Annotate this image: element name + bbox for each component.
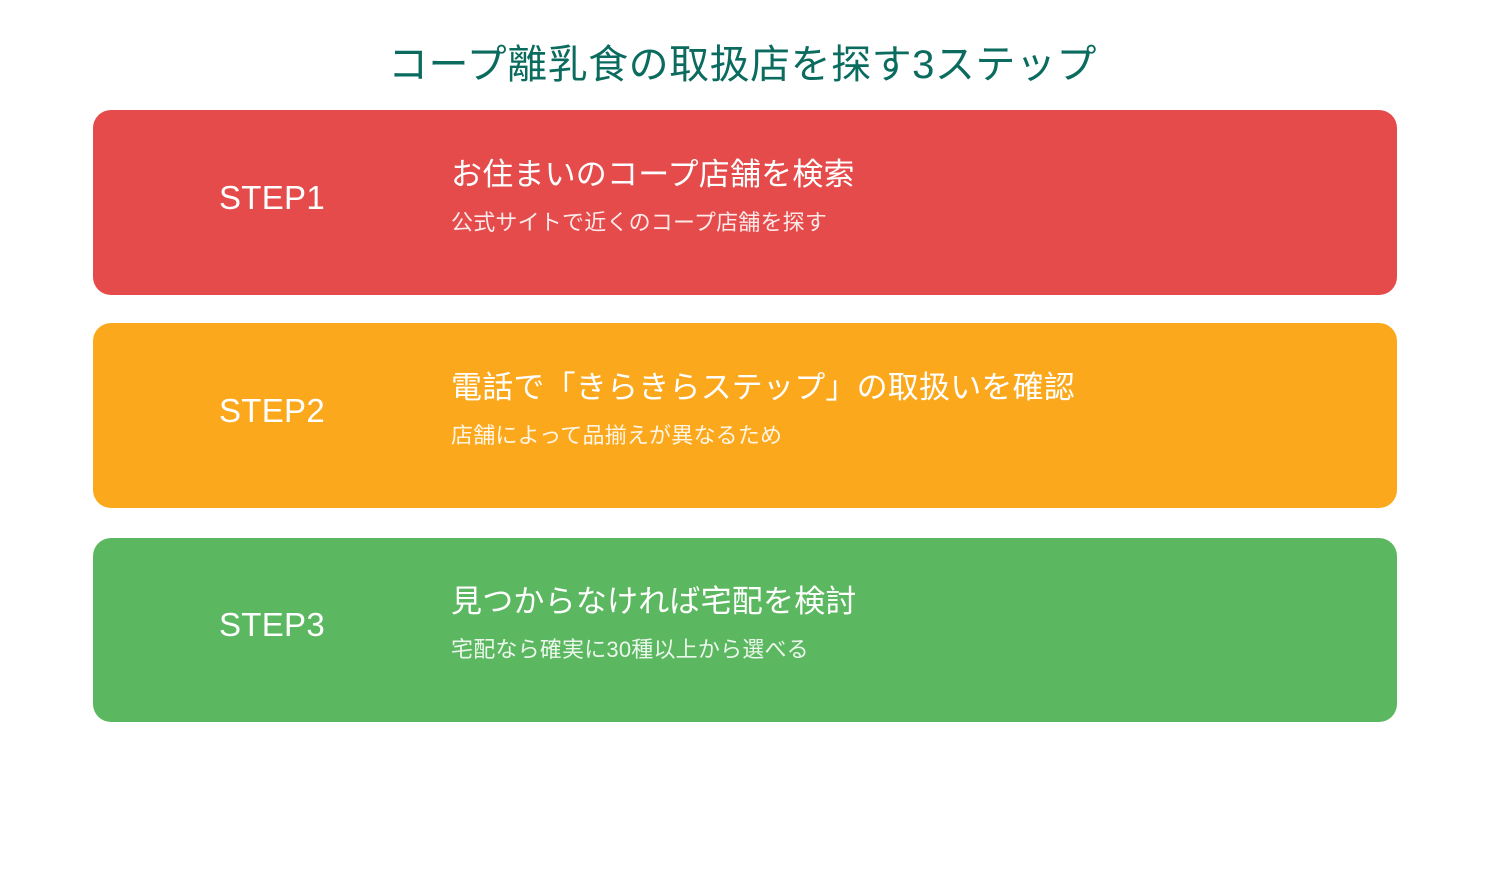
step-heading-1: お住まいのコープ店舗を検索	[451, 156, 1397, 195]
step-heading-2: 電話で「きらきらステップ」の取扱いを確認	[451, 369, 1397, 408]
step-label-1: STEP1	[219, 179, 325, 217]
step-card-1: STEP1 お住まいのコープ店舗を検索 公式サイトで近くのコープ店舗を探す	[93, 110, 1397, 295]
step-subtext-1: 公式サイトで近くのコープ店舗を探す	[451, 209, 1397, 238]
infographic-root: コープ離乳食の取扱店を探す3ステップ STEP1 お住まいのコープ店舗を検索 公…	[0, 0, 1485, 885]
step-label-container-1: STEP1	[93, 179, 451, 227]
step-text-container-2: 電話で「きらきらステップ」の取扱いを確認 店舗によって品揃えが異なるため	[451, 369, 1397, 462]
step-card-2: STEP2 電話で「きらきらステップ」の取扱いを確認 店舗によって品揃えが異なる…	[93, 323, 1397, 508]
steps-list: STEP1 お住まいのコープ店舗を検索 公式サイトで近くのコープ店舗を探す ST…	[93, 110, 1397, 722]
step-text-container-1: お住まいのコープ店舗を検索 公式サイトで近くのコープ店舗を探す	[451, 156, 1397, 249]
step-label-container-2: STEP2	[93, 392, 451, 440]
step-subtext-3: 宅配なら確実に30種以上から選べる	[451, 636, 1397, 665]
step-label-container-3: STEP3	[93, 606, 451, 654]
step-text-container-3: 見つからなければ宅配を検討 宅配なら確実に30種以上から選べる	[451, 583, 1397, 676]
step-label-2: STEP2	[219, 392, 325, 430]
step-subtext-2: 店舗によって品揃えが異なるため	[451, 422, 1397, 451]
step-label-3: STEP3	[219, 606, 325, 644]
step-card-3: STEP3 見つからなければ宅配を検討 宅配なら確実に30種以上から選べる	[93, 538, 1397, 722]
step-heading-3: 見つからなければ宅配を検討	[451, 583, 1397, 622]
page-title: コープ離乳食の取扱店を探す3ステップ	[0, 32, 1485, 90]
